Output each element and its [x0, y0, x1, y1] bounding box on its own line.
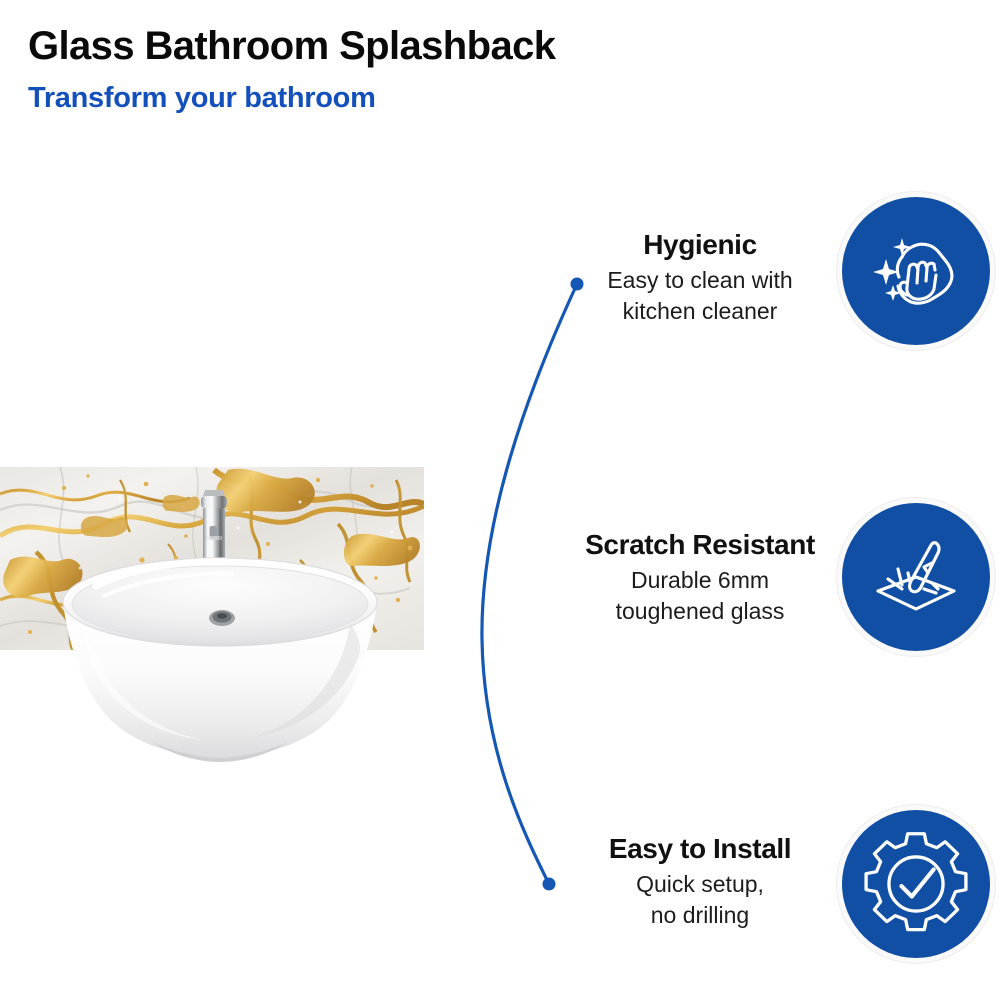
feature-icon-badge-easy-to-install	[842, 810, 990, 958]
cleaning-hand-sparkle-icon	[866, 221, 966, 321]
feature-icon-badge-hygienic	[842, 197, 990, 345]
product-photo	[0, 440, 440, 790]
page-title: Glass Bathroom Splashback	[28, 24, 555, 69]
page-subtitle: Transform your bathroom	[28, 82, 376, 115]
infographic-canvas: Glass Bathroom Splashback Transform your…	[0, 0, 1000, 1000]
feature-icon-badge-scratch-resistant	[842, 503, 990, 651]
gear-checkmark-icon	[864, 832, 968, 936]
sparkle-group	[873, 238, 911, 301]
ceramic-basin	[63, 558, 377, 762]
knife-scratch-surface-icon	[866, 527, 966, 627]
